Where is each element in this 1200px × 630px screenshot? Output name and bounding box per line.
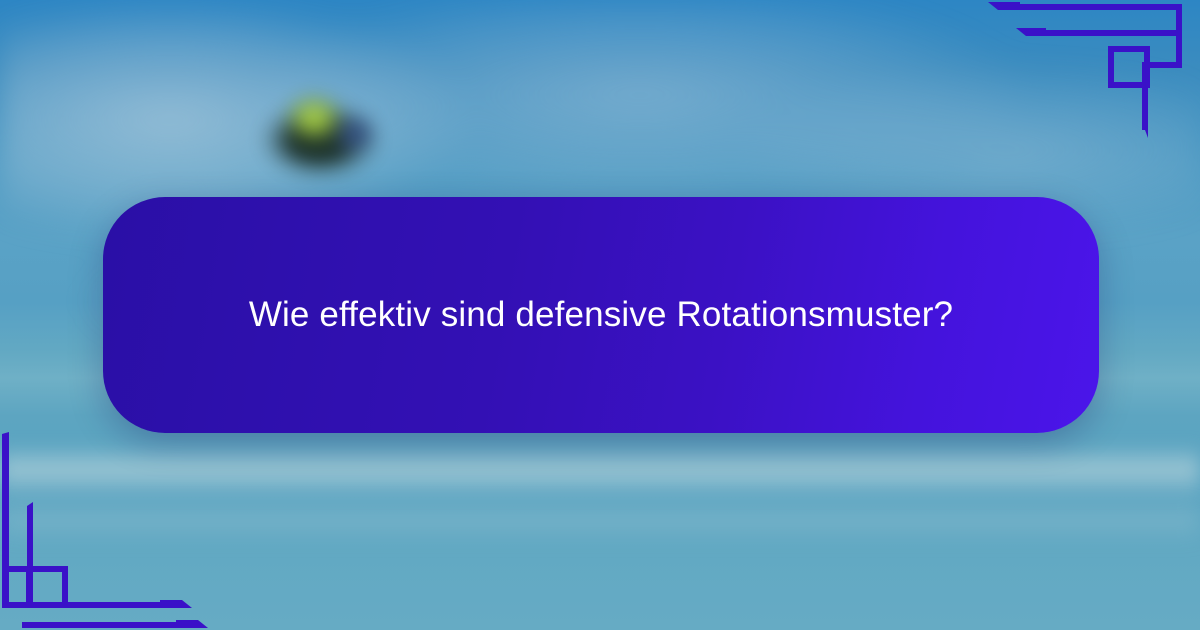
background-blurred-subject <box>258 84 386 176</box>
background-horizon-band <box>0 446 1200 498</box>
poster-canvas: Wie effektiv sind defensive Rotationsmus… <box>0 0 1200 630</box>
question-card[interactable]: Wie effektiv sind defensive Rotationsmus… <box>103 197 1099 433</box>
question-text: Wie effektiv sind defensive Rotationsmus… <box>191 293 1011 338</box>
background-lower-haze-band <box>0 500 1200 540</box>
